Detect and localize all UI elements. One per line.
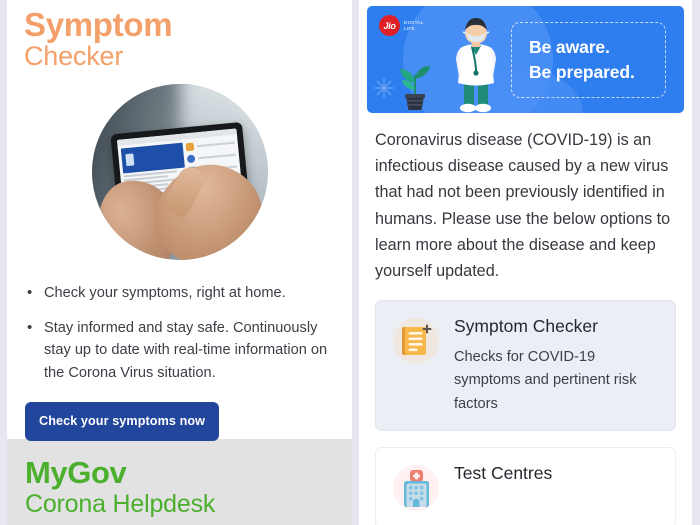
mygov-title: MyGov [25,457,352,488]
tablet-hero-block [120,143,184,174]
symptom-checker-heading: Symptom Checker [7,0,352,70]
awareness-message-box: Be aware. Be prepared. [511,22,666,98]
tablet-list-item [186,151,236,164]
hero-photo-circle [92,84,268,260]
option-card-test-centres[interactable]: Test Centres [375,447,676,525]
tablet-item-icon [185,143,194,152]
jio-tagline: DIGITAL LIFE [404,20,424,31]
awareness-line-2: Be prepared. [529,60,665,85]
heading-line-2: Checker [24,43,352,70]
right-panel-content: Jio DIGITAL LIFE [359,0,692,525]
snowflake-icon [373,77,395,99]
tablet-item-icon [186,155,195,164]
tablet-list-item [185,139,235,152]
jio-tagline-line-1: DIGITAL [404,20,424,26]
option-text-block: Test Centres [444,462,552,493]
hero-photo [92,84,268,260]
check-symptoms-button[interactable]: Check your symptoms now [25,402,219,441]
option-icon-container [388,315,444,367]
benefits-list: Check your symptoms, right at home. Stay… [7,282,352,384]
option-description: Checks for COVID-19 symptoms and pertine… [454,346,661,415]
symptom-checker-card: Symptom Checker [7,0,352,439]
icon-halo [393,465,439,511]
left-column: Symptom Checker [0,0,352,525]
jio-mark-icon: Jio [379,15,400,36]
tablet-item-line [197,154,235,160]
heading-line-1: Symptom [24,8,352,41]
option-card-symptom-checker[interactable]: Symptom Checker Checks for COVID-19 symp… [375,300,676,430]
option-title: Test Centres [454,463,552,484]
option-text-block: Symptom Checker Checks for COVID-19 symp… [444,315,661,415]
tablet-item-line [196,142,234,148]
option-title: Symptom Checker [454,316,661,337]
jio-logo: Jio DIGITAL LIFE [379,15,424,36]
covid-intro-paragraph: Coronavirus disease (COVID-19) is an inf… [367,113,684,284]
mygov-helpdesk-section: MyGov Corona Helpdesk [7,439,352,525]
awareness-line-1: Be aware. [529,35,665,60]
list-item: Stay informed and stay safe. Continuousl… [27,317,334,385]
potted-plant-icon [395,57,435,111]
option-icon-container [388,462,444,514]
list-item: Check your symptoms, right at home. [27,282,334,305]
jio-tagline-line-2: LIFE [404,26,424,32]
jio-awareness-banner: Jio DIGITAL LIFE [367,6,684,113]
app-root: Symptom Checker [0,0,700,525]
right-column: Jio DIGITAL LIFE [352,0,700,525]
mygov-subtitle: Corona Helpdesk [25,491,352,519]
doctor-illustration [445,13,507,113]
